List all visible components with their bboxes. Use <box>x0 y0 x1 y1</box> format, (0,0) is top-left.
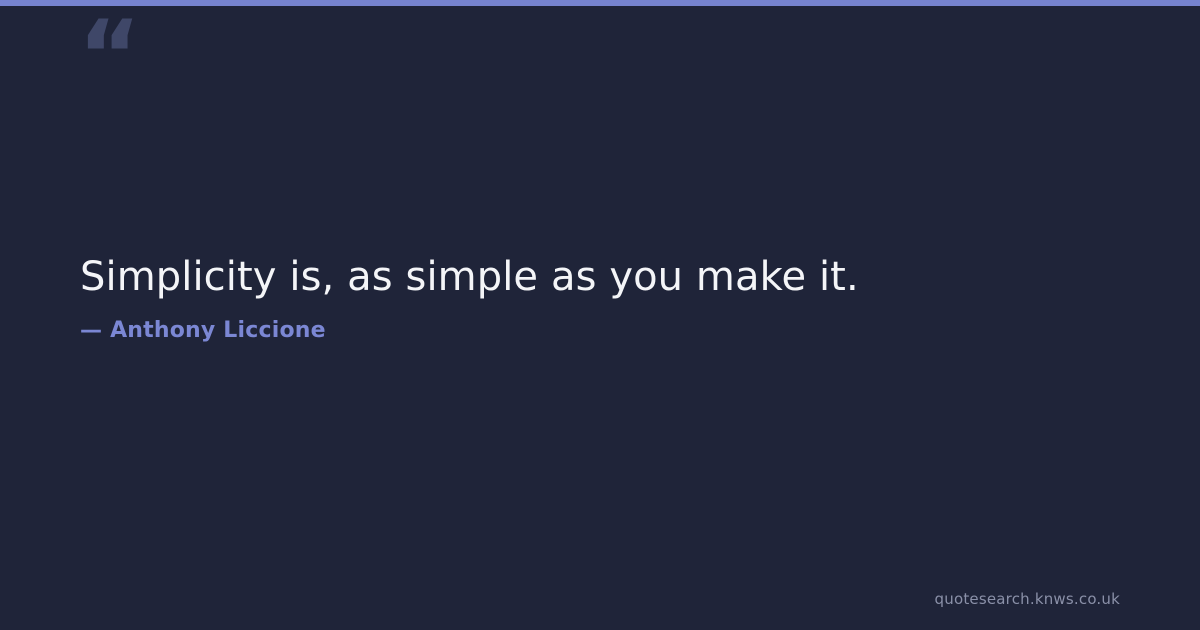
open-quote-icon: “ <box>78 8 139 104</box>
attribution-dash: — <box>80 318 102 343</box>
quote-text: Simplicity is, as simple as you make it. <box>80 252 1080 302</box>
quote-card: “ Simplicity is, as simple as you make i… <box>0 0 1200 630</box>
attribution-author: Anthony Liccione <box>110 318 326 343</box>
quote-content: Simplicity is, as simple as you make it.… <box>80 252 1120 344</box>
quote-attribution: — Anthony Liccione <box>80 318 1120 344</box>
footer-source-url: quotesearch.knws.co.uk <box>935 590 1120 608</box>
top-accent-bar <box>0 0 1200 6</box>
